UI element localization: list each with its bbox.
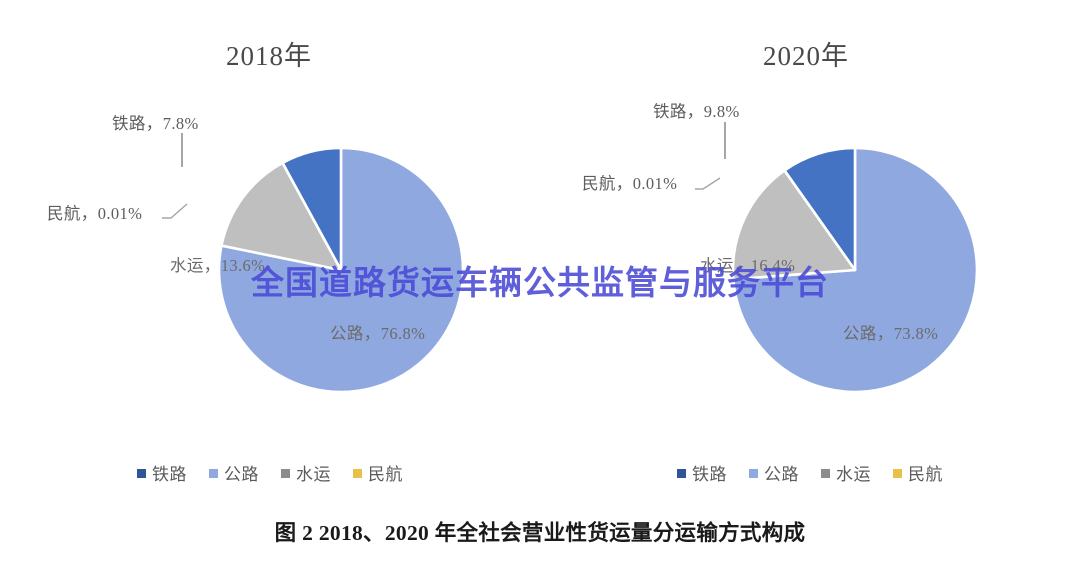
data-label-water-2018: 水运，13.6% [170,252,265,276]
data-label-road-2020: 公路，73.8% [843,320,938,344]
legend-item-rail-2018[interactable]: 铁路 [137,460,187,485]
data-label-air-2020: 民航，0.01% [582,170,677,194]
legend-2018: 铁路 公路 水运 民航 [0,460,540,485]
legend-swatch-water-icon [821,469,830,478]
legend-label-road: 公路 [224,460,259,485]
data-label-road-2018: 公路，76.8% [330,320,425,344]
chart-title-2020: 2020年 [536,34,1076,73]
chart-title-2018: 2018年 [0,34,539,73]
legend-2020: 铁路 公路 水运 民航 [540,460,1080,485]
legend-item-air-2020[interactable]: 民航 [893,460,943,485]
legend-label-rail: 铁路 [692,460,727,485]
legend-swatch-road-icon [749,469,758,478]
data-label-air-2018: 民航，0.01% [47,200,142,224]
legend-item-road-2018[interactable]: 公路 [209,460,259,485]
legend-swatch-rail-icon [137,469,146,478]
legend-swatch-air-icon [353,469,362,478]
legend-item-rail-2020[interactable]: 铁路 [677,460,727,485]
data-label-water-2020: 水运，16.4% [700,252,795,276]
legend-swatch-air-icon [893,469,902,478]
legend-item-water-2020[interactable]: 水运 [821,460,871,485]
legend-label-road: 公路 [764,460,799,485]
leader-line-air-2018 [162,204,188,222]
legend-swatch-water-icon [281,469,290,478]
leader-line-rail-2018 [181,133,183,167]
figure-container: 2018年 铁路，7.8% 民航，0.01% 水运，13.6% 公路，76.8%… [0,0,1080,581]
legend-label-water: 水运 [836,460,871,485]
leader-line-air-2020 [695,176,721,194]
leader-line-rail-2020 [724,122,726,159]
legend-label-air: 民航 [908,460,943,485]
data-label-rail-2018: 铁路，7.8% [112,110,199,134]
legend-label-air: 民航 [368,460,403,485]
pie-panel-2020: 2020年 铁路，9.8% 民航，0.01% 水运，16.4% 公路，73.8%… [540,0,1080,505]
legend-label-rail: 铁路 [152,460,187,485]
pie-panel-2018: 2018年 铁路，7.8% 民航，0.01% 水运，13.6% 公路，76.8%… [0,0,540,505]
legend-item-road-2020[interactable]: 公路 [749,460,799,485]
figure-caption: 图 2 2018、2020 年全社会营业性货运量分运输方式构成 [0,516,1080,547]
legend-item-air-2018[interactable]: 民航 [353,460,403,485]
legend-swatch-rail-icon [677,469,686,478]
legend-swatch-road-icon [209,469,218,478]
legend-item-water-2018[interactable]: 水运 [281,460,331,485]
data-label-rail-2020: 铁路，9.8% [653,98,740,122]
legend-label-water: 水运 [296,460,331,485]
